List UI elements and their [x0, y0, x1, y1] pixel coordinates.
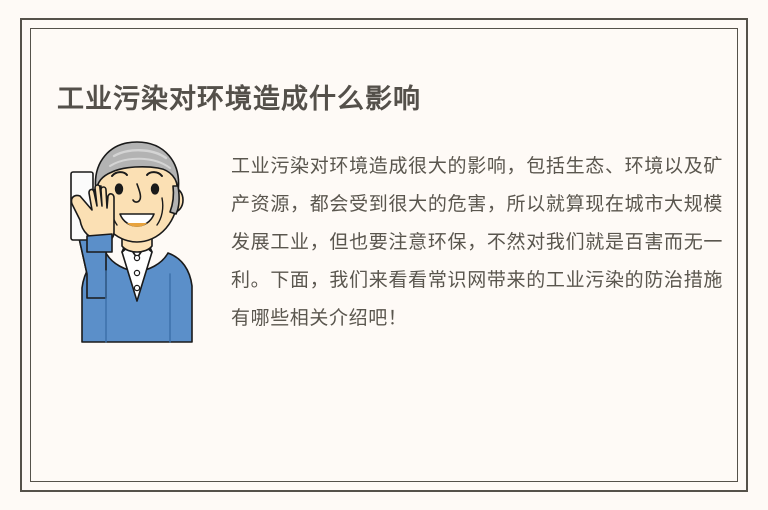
page-root: 工业污染对环境造成什么影响 [0, 0, 768, 510]
page-title: 工业污染对环境造成什么影响 [57, 82, 421, 116]
eye-left [115, 183, 123, 194]
shirt-button-1 [134, 255, 139, 260]
article-body-text: 工业污染对环境造成很大的影响，包括生态、环境以及矿产资源，都会受到很大的危害，所… [231, 148, 723, 338]
illustration-svg [62, 126, 212, 358]
elderly-man-on-phone-illustration [62, 126, 212, 358]
shirt-button-2 [134, 270, 139, 275]
shirt-button-3 [134, 285, 139, 290]
sweater-cuff [87, 234, 112, 252]
eye-right [151, 183, 159, 194]
